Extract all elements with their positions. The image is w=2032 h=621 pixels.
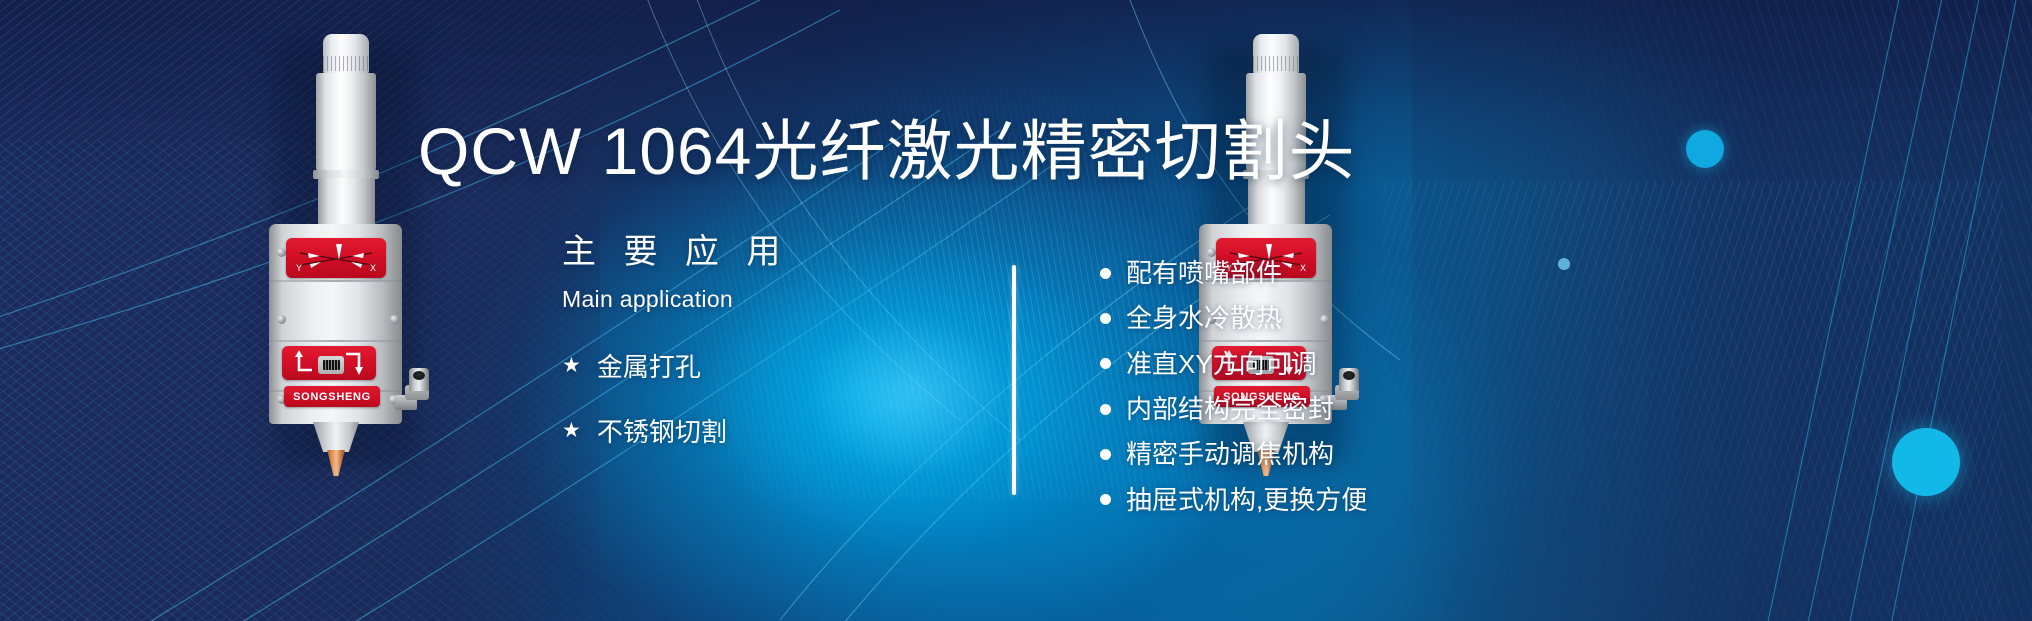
brand-plate: SONGSHENG [284, 386, 380, 407]
air-fitting [395, 368, 429, 412]
decorative-circle-small [1686, 130, 1724, 168]
body-seam [269, 340, 402, 342]
bullet-icon [1100, 449, 1111, 460]
head-top-cap [1253, 34, 1299, 74]
xy-axis-label: Y X [286, 238, 386, 278]
list-item: 全身水冷散热 [1100, 301, 1367, 335]
list-item: 精密手动调焦机构 [1100, 437, 1367, 471]
feature-label: 抽屉式机构,更换方便 [1126, 483, 1367, 517]
screw-icon [390, 315, 399, 324]
bullet-icon [1100, 358, 1111, 369]
application-heading-en: Main application [562, 286, 862, 313]
head-top-cap [323, 34, 369, 74]
screw-icon [277, 315, 286, 324]
star-icon: ★ [562, 420, 581, 441]
decorative-circle-large [1892, 428, 1960, 496]
list-item: 内部结构完全密封 [1100, 392, 1367, 426]
indicator-window [318, 356, 344, 374]
bullet-icon [1100, 313, 1111, 324]
banner-title: QCW 1064光纤激光精密切割头 [418, 98, 1355, 194]
feature-label: 精密手动调焦机构 [1126, 437, 1334, 471]
list-item: 抽屉式机构,更换方便 [1100, 483, 1367, 517]
application-heading-cn: 主 要 应 用 [562, 224, 862, 273]
list-item: 准直XY方向可调 [1100, 347, 1367, 381]
vertical-divider [1012, 265, 1016, 495]
axis-label-y: Y [296, 263, 302, 273]
list-item: ★ 金属打孔 [562, 347, 862, 384]
star-icon: ★ [562, 355, 581, 376]
decorative-circle-tiny [1558, 258, 1570, 270]
fitting-vertical-port [409, 368, 429, 391]
feature-list: 配有喷嘴部件 全身水冷散热 准直XY方向可调 内部结构完全密封 精密手动调焦机构… [1100, 256, 1367, 528]
feature-label: 配有喷嘴部件 [1126, 256, 1282, 290]
feature-label: 全身水冷散热 [1126, 301, 1282, 335]
main-application-block: 主 要 应 用 Main application ★ 金属打孔 ★ 不锈钢切割 [562, 224, 862, 477]
feature-label: 内部结构完全密封 [1126, 392, 1334, 426]
body-seam [269, 280, 402, 282]
list-item: 配有喷嘴部件 [1100, 256, 1367, 290]
feature-label: 准直XY方向可调 [1126, 347, 1317, 381]
product-banner: Y X SONGSHENG [0, 0, 2032, 621]
axis-label-x: X [370, 263, 376, 273]
head-upper-cylinder [316, 73, 376, 171]
bullet-icon [1100, 268, 1111, 279]
application-item-label: 金属打孔 [597, 347, 701, 384]
bullet-icon [1100, 494, 1111, 505]
laser-head-image-left: Y X SONGSHENG [250, 34, 440, 474]
head-lower-cylinder [318, 178, 375, 226]
screw-icon [277, 248, 286, 257]
list-item: ★ 不锈钢切割 [562, 412, 862, 449]
application-item-label: 不锈钢切割 [597, 412, 727, 449]
application-list: ★ 金属打孔 ★ 不锈钢切割 [562, 347, 862, 449]
bullet-icon [1100, 404, 1111, 415]
brand-name: SONGSHENG [293, 391, 371, 403]
